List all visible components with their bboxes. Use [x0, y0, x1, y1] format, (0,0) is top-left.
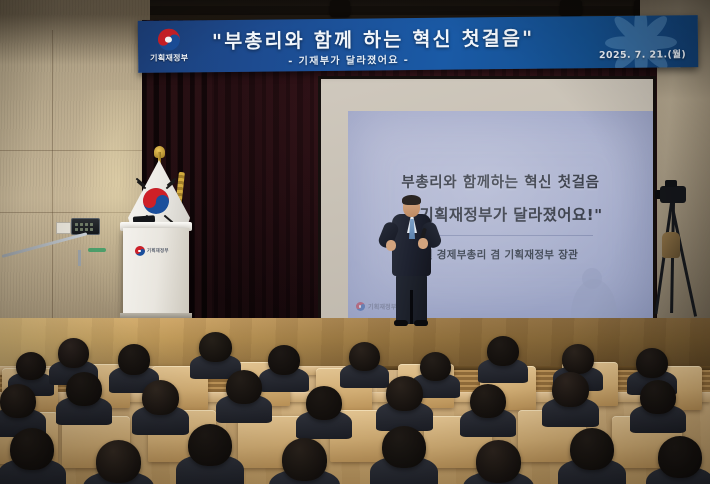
panel-button[interactable] [80, 228, 83, 231]
audience-member-head [349, 342, 380, 371]
audience-member-head [476, 440, 521, 483]
video-camera [660, 186, 686, 203]
speaker-hand-right [418, 238, 428, 249]
audience-member-head [658, 436, 702, 478]
projection-glow [348, 111, 653, 319]
handrail-post [78, 250, 81, 266]
podium [123, 228, 189, 316]
speaker-hair [402, 195, 421, 205]
audience-member-head [470, 384, 506, 418]
audience-member-head [96, 440, 141, 483]
audience-member-head [282, 438, 327, 481]
banner-ministry-logo: 기획재정부 [150, 28, 189, 63]
audience-member-head [118, 344, 150, 375]
panel-button[interactable] [75, 228, 78, 231]
panel-button[interactable] [90, 223, 93, 226]
taegeuk-icon [135, 246, 145, 256]
panel-button[interactable] [85, 223, 88, 226]
podium-ministry-logo: 기획재정부 [135, 246, 169, 256]
audience-member-head [268, 345, 300, 375]
audience-member-head [10, 428, 54, 470]
panel-button[interactable] [75, 223, 78, 226]
panel-button[interactable] [90, 228, 93, 231]
audience-member-head [142, 380, 179, 415]
wall-sign [56, 222, 71, 234]
audience-member-head [226, 370, 262, 404]
audience-member-head [306, 386, 342, 420]
audience-member-head [58, 338, 89, 368]
banner-date: 2025. 7. 21.(월) [599, 46, 686, 61]
podium-logo-label: 기획재정부 [147, 248, 169, 254]
audience-member-head [562, 344, 594, 374]
speaker-hand-left [386, 240, 396, 251]
banner-ministry-label: 기획재정부 [150, 52, 188, 63]
speaker-shoe-right [414, 320, 428, 326]
audience-member-head [0, 384, 36, 418]
panel-button[interactable] [80, 223, 83, 226]
audience-member-head [199, 332, 232, 362]
audience-member-head [66, 372, 102, 406]
audience-member-head [420, 352, 451, 381]
audience-member-head [636, 348, 668, 378]
projection-screen: 부총리와 함께하는 혁신 첫걸음 - "기획재정부가 달라졌어요!" 철 경제부… [321, 79, 653, 319]
stage-spotlight-icon [330, 0, 350, 17]
banner-subtitle: - 기재부가 달라졌어요 - [288, 51, 409, 67]
conference-photo: 부총리와 함께하는 혁신 첫걸음 - "기획재정부가 달라졌어요!" 철 경제부… [0, 0, 710, 484]
panel-button[interactable] [85, 228, 88, 231]
camera-operator [662, 232, 680, 258]
audience-member-head [386, 376, 423, 411]
audience-member-head [640, 380, 676, 414]
speaker-leg-gap [410, 290, 413, 324]
taegeuk-icon [158, 28, 180, 50]
banner-title: "부총리와 함께 하는 혁신 첫걸음" [212, 21, 602, 54]
audience-member-head [188, 424, 232, 466]
audience-member-head [487, 336, 519, 366]
speaker-shoe-left [394, 320, 408, 326]
audience-member-head [16, 352, 46, 380]
camera-top-handle [665, 180, 677, 187]
stage-spotlight-icon [560, 0, 582, 16]
event-banner: 기획재정부 "부총리와 함께 하는 혁신 첫걸음" - 기재부가 달라졌어요 -… [138, 15, 699, 73]
handrail-grip [88, 248, 106, 252]
audience-member-head [552, 372, 589, 407]
audience-member-head [570, 428, 614, 470]
mugunghwa-flower-icon [602, 15, 681, 73]
audience-member-head [382, 426, 426, 468]
taegeuk-icon [143, 188, 169, 214]
